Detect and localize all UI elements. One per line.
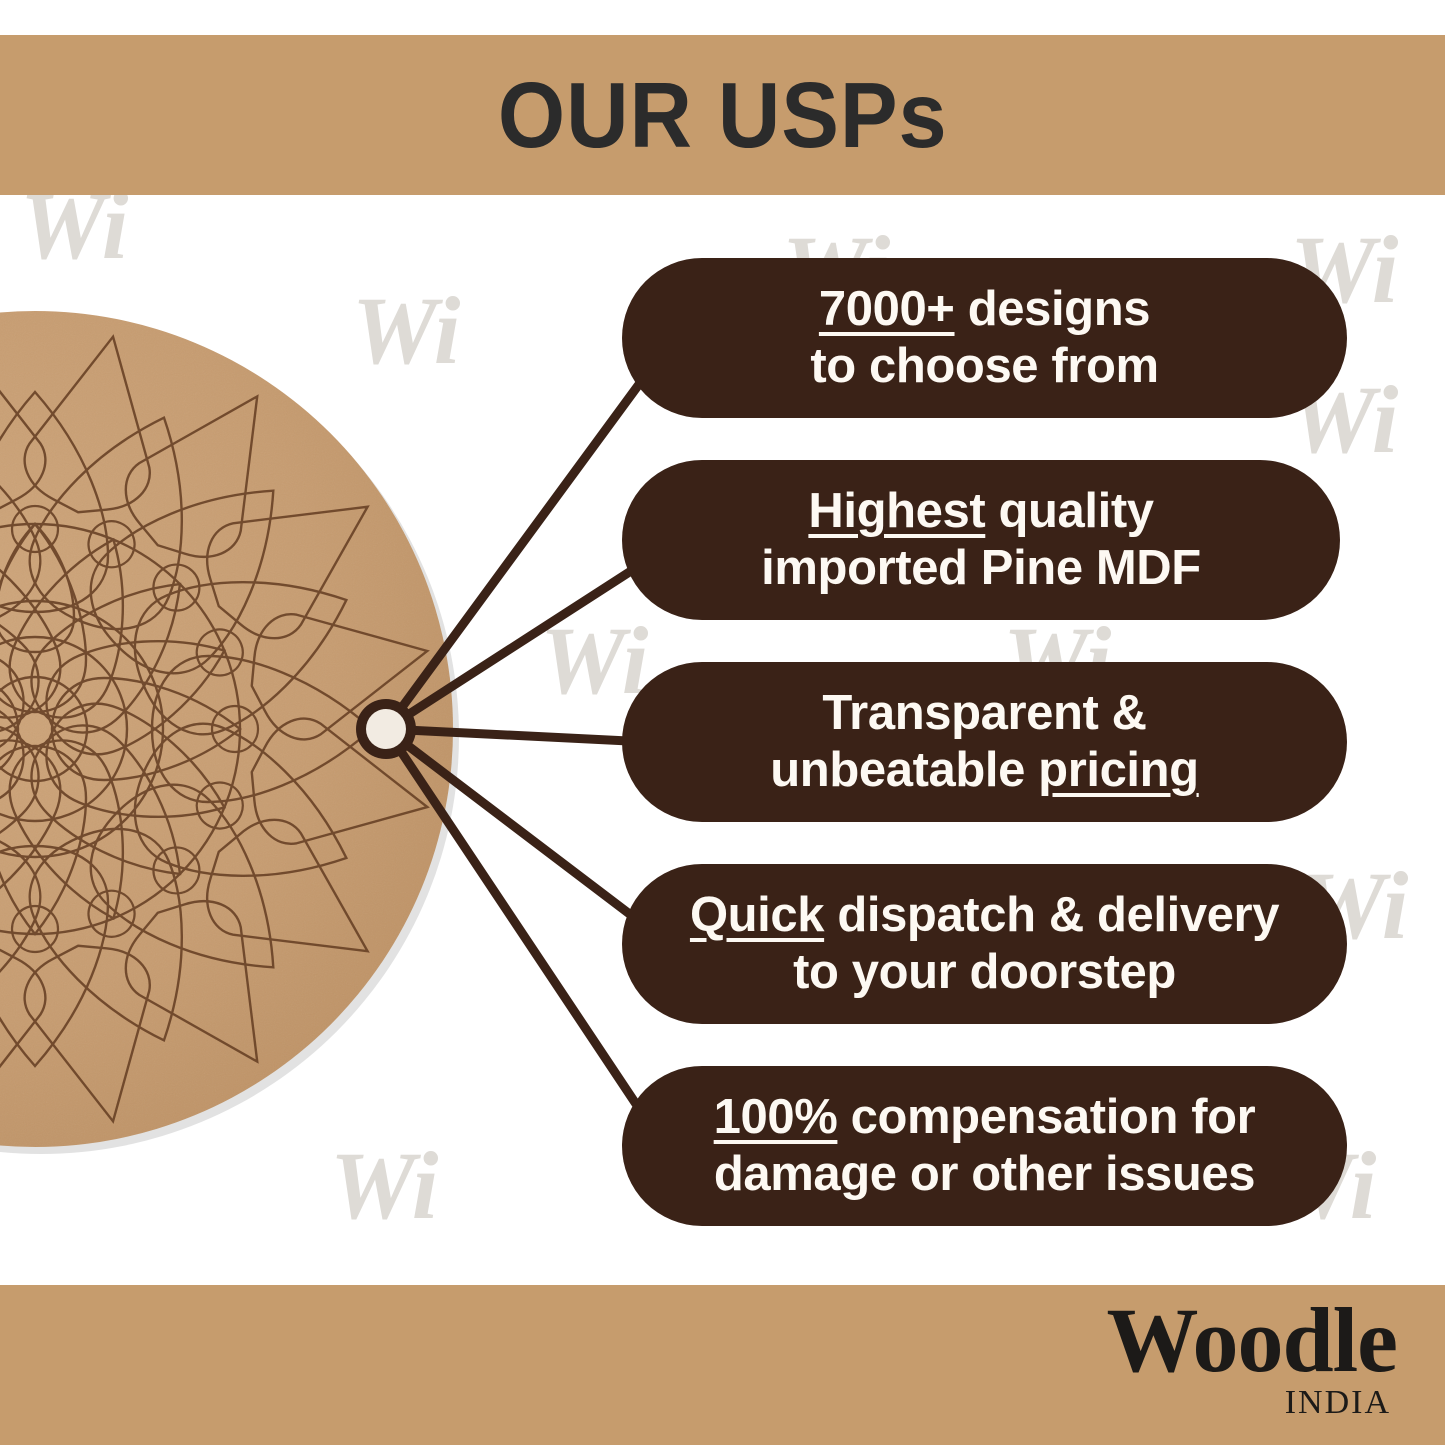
usp-text-line: Transparent & (822, 685, 1146, 742)
hub-node-center (366, 709, 406, 749)
brand-logo-word: Woodle (1107, 1297, 1397, 1384)
connector-line (386, 560, 648, 729)
usp-dispatch[interactable]: Quick dispatch & deliveryto your doorste… (622, 864, 1347, 1024)
usp-text-line: to choose from (810, 338, 1158, 395)
page-title: OUR USPs (498, 69, 948, 162)
brand-logo-subtitle: INDIA (1107, 1386, 1391, 1420)
brand-logo[interactable]: Woodle INDIA (1107, 1297, 1397, 1420)
usp-text-line: 7000+ designs (819, 281, 1150, 338)
usp-text-line: to your doorstep (793, 944, 1176, 1001)
connector-line (386, 372, 648, 729)
connector-line (386, 729, 648, 928)
infographic-page: WiWiWiWiWiWiWiWiWiWi OUR USPs 7000+ desi… (0, 0, 1445, 1445)
usp-text-line: damage or other issues (714, 1146, 1255, 1203)
usp-text-line: Highest quality (808, 483, 1153, 540)
usp-designs[interactable]: 7000+ designsto choose from (622, 258, 1347, 418)
usp-text-line: 100% compensation for (714, 1089, 1256, 1146)
usp-compensation[interactable]: 100% compensation fordamage or other iss… (622, 1066, 1347, 1226)
usp-quality[interactable]: Highest qualityimported Pine MDF (622, 460, 1340, 620)
header-banner: OUR USPs (0, 35, 1445, 195)
connector-line (386, 729, 648, 1122)
connector-line (386, 729, 648, 742)
usp-text-line: imported Pine MDF (761, 540, 1201, 597)
usp-text-line: unbeatable pricing (770, 742, 1198, 799)
footer-banner: Woodle INDIA (0, 1285, 1445, 1445)
usp-text-line: Quick dispatch & delivery (690, 887, 1279, 944)
usp-pricing[interactable]: Transparent &unbeatable pricing (622, 662, 1347, 822)
